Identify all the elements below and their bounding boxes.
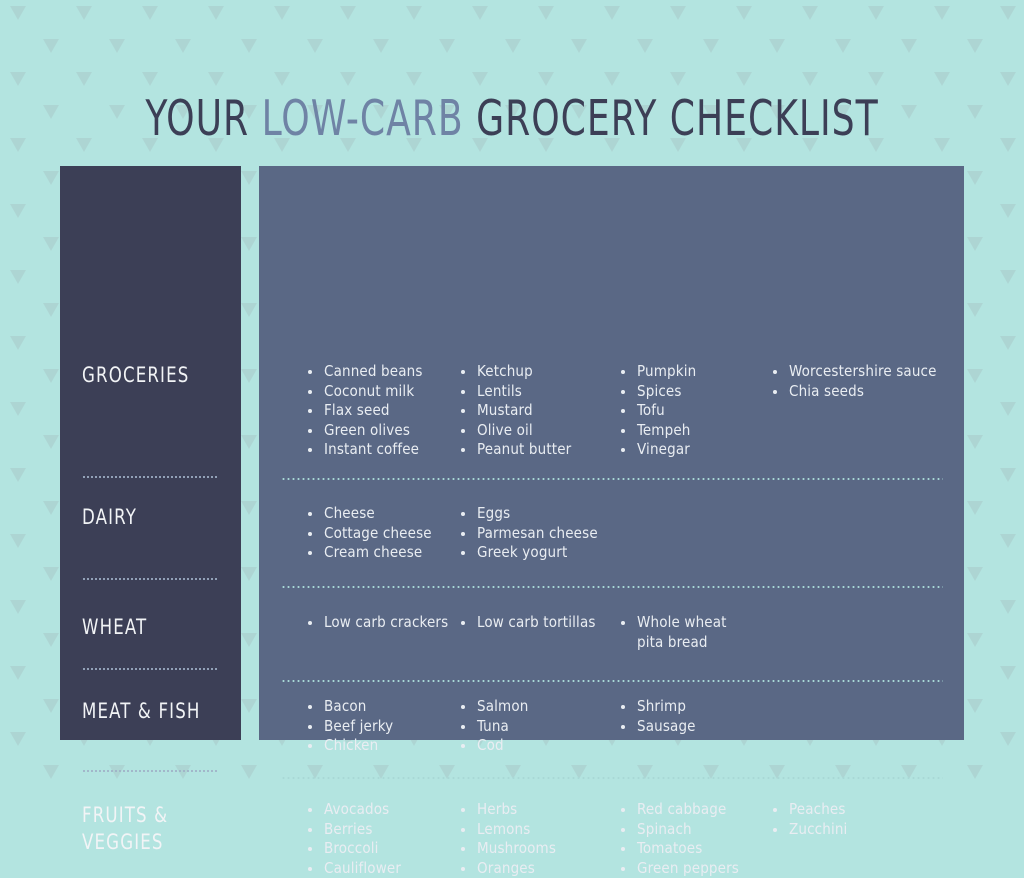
checklist-group: Low carb tortillas bbox=[459, 613, 619, 633]
section-wheat-column-2: Low carb tortillas bbox=[459, 613, 619, 633]
section-dairy: CheeseCottage cheeseCream cheese EggsPar… bbox=[259, 504, 964, 563]
checklist-item[interactable]: Peaches bbox=[771, 800, 951, 820]
sidebar-item-meat-and-fish[interactable]: MEAT & FISH bbox=[82, 698, 212, 725]
checklist-item[interactable]: Tofu bbox=[619, 401, 771, 421]
section-groceries-column-2: KetchupLentilsMustardOlive oilPeanut but… bbox=[459, 362, 619, 460]
checklist-group: PeachesZucchini bbox=[771, 800, 951, 839]
checklist-item[interactable]: Red cabbage bbox=[619, 800, 771, 820]
checklist-item[interactable]: Cottage cheese bbox=[306, 524, 459, 544]
section-fruits-and-veggies-column-2: HerbsLemonsMushroomsOranges bbox=[459, 800, 619, 878]
sidebar-item-dairy[interactable]: DAIRY bbox=[82, 504, 212, 531]
section-wheat-column-1: Low carb crackers bbox=[306, 613, 459, 633]
checklist-item[interactable]: Avocados bbox=[306, 800, 459, 820]
checklist-item[interactable]: Green peppers bbox=[619, 859, 771, 878]
category-sidebar: GROCERIES DAIRY WHEAT MEAT & FISH FRUITS… bbox=[60, 166, 241, 740]
checklist-item[interactable]: Cauliflower bbox=[306, 859, 459, 878]
checklist-item[interactable]: Low carb tortillas bbox=[459, 613, 619, 633]
checklist-item[interactable]: Broccoli bbox=[306, 839, 459, 859]
checklist-item[interactable]: Herbs bbox=[459, 800, 619, 820]
checklist-item[interactable]: Lemons bbox=[459, 820, 619, 840]
section-fruits-and-veggies-column-4: PeachesZucchini bbox=[771, 800, 951, 839]
checklist-group: ShrimpSausage bbox=[619, 697, 771, 736]
checklist-item[interactable]: Chia seeds bbox=[771, 382, 951, 402]
checklist-group: CheeseCottage cheeseCream cheese bbox=[306, 504, 459, 563]
section-meat-and-fish: BaconBeef jerkyChicken SalmonTunaCod Shr… bbox=[259, 697, 964, 756]
checklist-item[interactable]: Instant coffee bbox=[306, 440, 459, 460]
checklist-item[interactable]: Mustard bbox=[459, 401, 619, 421]
checklist-item[interactable]: Bacon bbox=[306, 697, 459, 717]
checklist-item[interactable]: Pumpkin bbox=[619, 362, 771, 382]
section-groceries-column-3: PumpkinSpicesTofuTempehVinegar bbox=[619, 362, 771, 460]
checklist-item[interactable]: Vinegar bbox=[619, 440, 771, 460]
checklist-item[interactable]: Tomatoes bbox=[619, 839, 771, 859]
checklist-item[interactable]: Cream cheese bbox=[306, 543, 459, 563]
section-groceries-column-4: Worcestershire sauceChia seeds bbox=[771, 362, 951, 401]
section-dairy-column-2: EggsParmesan cheeseGreek yogurt bbox=[459, 504, 619, 563]
checklist-item[interactable]: Oranges bbox=[459, 859, 619, 878]
checklist-item[interactable]: Sausage bbox=[619, 717, 771, 737]
checklist-item[interactable]: Eggs bbox=[459, 504, 619, 524]
checklist-group: Whole wheat pita bread bbox=[619, 613, 771, 652]
section-divider-3 bbox=[281, 680, 943, 682]
checklist-group: KetchupLentilsMustardOlive oilPeanut but… bbox=[459, 362, 619, 460]
checklist-item[interactable]: Green olives bbox=[306, 421, 459, 441]
checklist-item[interactable]: Chicken bbox=[306, 736, 459, 756]
checklist-item[interactable]: Parmesan cheese bbox=[459, 524, 619, 544]
section-divider-2 bbox=[281, 586, 943, 588]
checklist-item[interactable]: Flax seed bbox=[306, 401, 459, 421]
checklist-item[interactable]: Canned beans bbox=[306, 362, 459, 382]
section-meat-and-fish-column-2: SalmonTunaCod bbox=[459, 697, 619, 756]
checklist-group: AvocadosBerriesBroccoliCauliflower bbox=[306, 800, 459, 878]
section-fruits-and-veggies-column-1: AvocadosBerriesBroccoliCauliflower bbox=[306, 800, 459, 878]
checklist-group: Red cabbageSpinachTomatoesGreen peppers bbox=[619, 800, 771, 878]
sidebar-item-groceries[interactable]: GROCERIES bbox=[82, 362, 212, 389]
checklist-item[interactable]: Zucchini bbox=[771, 820, 951, 840]
section-fruits-and-veggies-column-3: Red cabbageSpinachTomatoesGreen peppers bbox=[619, 800, 771, 878]
sidebar-divider-1 bbox=[82, 476, 218, 478]
sidebar-item-fruits-and-veggies[interactable]: FRUITS & VEGGIES bbox=[82, 802, 212, 856]
checklist-item[interactable]: Tempeh bbox=[619, 421, 771, 441]
checklist-item[interactable]: Worcestershire sauce bbox=[771, 362, 951, 382]
section-fruits-and-veggies: AvocadosBerriesBroccoliCauliflower Herbs… bbox=[259, 800, 964, 878]
section-groceries-column-1: Canned beansCoconut milkFlax seedGreen o… bbox=[306, 362, 459, 460]
checklist-item[interactable]: Peanut butter bbox=[459, 440, 619, 460]
checklist-group: BaconBeef jerkyChicken bbox=[306, 697, 459, 756]
checklist-item[interactable]: Berries bbox=[306, 820, 459, 840]
checklist-item[interactable]: Ketchup bbox=[459, 362, 619, 382]
section-wheat: Low carb crackers Low carb tortillas Who… bbox=[259, 613, 964, 652]
title-word-grocery-checklist: GROCERY CHECKLIST bbox=[464, 90, 879, 147]
title-word-your: YOUR bbox=[145, 90, 261, 147]
section-dairy-column-1: CheeseCottage cheeseCream cheese bbox=[306, 504, 459, 563]
checklist-item[interactable]: Lentils bbox=[459, 382, 619, 402]
sidebar-divider-2 bbox=[82, 578, 218, 580]
checklist-item[interactable]: Coconut milk bbox=[306, 382, 459, 402]
checklist-item[interactable]: Whole wheat pita bread bbox=[619, 613, 771, 652]
checklist-item[interactable]: Spinach bbox=[619, 820, 771, 840]
section-divider-1 bbox=[281, 478, 943, 480]
checklist-group: Canned beansCoconut milkFlax seedGreen o… bbox=[306, 362, 459, 460]
checklist-item[interactable]: Mushrooms bbox=[459, 839, 619, 859]
checklist-item[interactable]: Tuna bbox=[459, 717, 619, 737]
section-groceries: Canned beansCoconut milkFlax seedGreen o… bbox=[259, 362, 964, 460]
checklist-item[interactable]: Low carb crackers bbox=[306, 613, 459, 633]
checklist-group: HerbsLemonsMushroomsOranges bbox=[459, 800, 619, 878]
checklist-item[interactable]: Olive oil bbox=[459, 421, 619, 441]
checklist-panel: Canned beansCoconut milkFlax seedGreen o… bbox=[259, 166, 964, 740]
sidebar-divider-4 bbox=[82, 770, 218, 772]
section-meat-and-fish-column-1: BaconBeef jerkyChicken bbox=[306, 697, 459, 756]
section-meat-and-fish-column-3: ShrimpSausage bbox=[619, 697, 771, 736]
checklist-item[interactable]: Cheese bbox=[306, 504, 459, 524]
checklist-item[interactable]: Beef jerky bbox=[306, 717, 459, 737]
checklist-group: Worcestershire sauceChia seeds bbox=[771, 362, 951, 401]
checklist-item[interactable]: Shrimp bbox=[619, 697, 771, 717]
checklist-group: PumpkinSpicesTofuTempehVinegar bbox=[619, 362, 771, 460]
checklist-group: SalmonTunaCod bbox=[459, 697, 619, 756]
sidebar-divider-3 bbox=[82, 668, 218, 670]
section-divider-4 bbox=[281, 777, 943, 779]
section-wheat-column-3: Whole wheat pita bread bbox=[619, 613, 771, 652]
checklist-item[interactable]: Salmon bbox=[459, 697, 619, 717]
page-title: YOUR LOW-CARB GROCERY CHECKLIST bbox=[92, 89, 932, 149]
checklist-group: EggsParmesan cheeseGreek yogurt bbox=[459, 504, 619, 563]
checklist-group: Low carb crackers bbox=[306, 613, 459, 633]
title-word-low-carb: LOW-CARB bbox=[262, 90, 464, 147]
checklist-item[interactable]: Cod bbox=[459, 736, 619, 756]
checklist-item[interactable]: Greek yogurt bbox=[459, 543, 619, 563]
checklist-item[interactable]: Spices bbox=[619, 382, 771, 402]
sidebar-item-wheat[interactable]: WHEAT bbox=[82, 614, 212, 641]
